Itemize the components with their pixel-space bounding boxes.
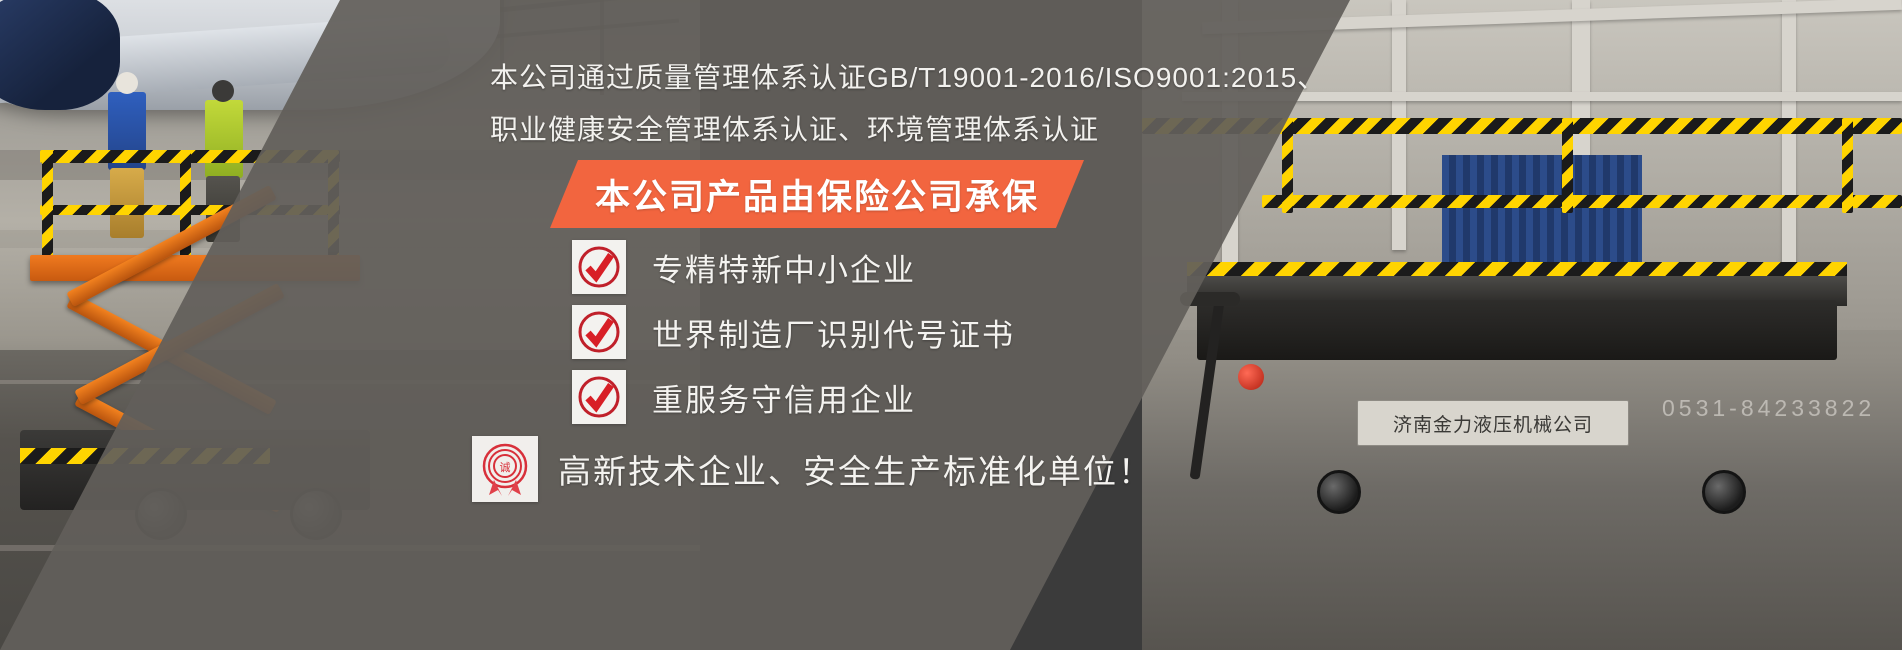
certification-line-2: 职业健康安全管理体系认证、环境管理体系认证 [490, 108, 1099, 148]
medal-glyph: 诚 [500, 461, 511, 474]
banner-content: 本公司通过质量管理体系认证GB/T19001-2016/ISO9001:2015… [0, 0, 1902, 650]
bullet-item: 重服务守信用企业 [572, 370, 916, 424]
final-highlight-row: 诚 高新技术企业、安全生产标准化单位！ [472, 436, 1153, 502]
bullet-label: 世界制造厂识别代号证书 [652, 310, 1015, 355]
red-check-circle-icon [572, 305, 626, 359]
red-check-circle-icon [572, 240, 626, 294]
bullet-item: 专精特新中小企业 [572, 240, 916, 294]
final-highlight-label: 高新技术企业、安全生产标准化单位！ [558, 445, 1153, 493]
insurance-highlight-banner: 本公司产品由保险公司承保 [550, 160, 1084, 228]
promo-banner: 济南金力液压机械公司 0531-84233822 本公司通过质量管理体系认证GB… [0, 0, 1902, 650]
insurance-highlight-label: 本公司产品由保险公司承保 [595, 169, 1039, 220]
red-check-circle-icon [572, 370, 626, 424]
integrity-medal-seal-icon: 诚 [472, 436, 538, 502]
bullet-label: 专精特新中小企业 [652, 245, 916, 290]
certification-line-1: 本公司通过质量管理体系认证GB/T19001-2016/ISO9001:2015… [490, 56, 1326, 96]
bullet-label: 重服务守信用企业 [652, 375, 916, 420]
bullet-item: 世界制造厂识别代号证书 [572, 305, 1015, 359]
